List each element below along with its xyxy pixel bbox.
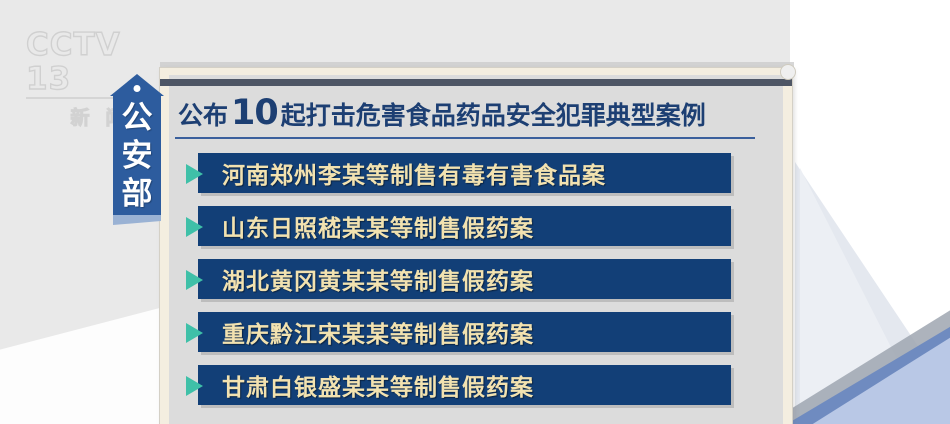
list-item[interactable]: 山东日照嵇某某等制售假药案: [186, 206, 746, 246]
triangle-right-icon: [186, 323, 203, 343]
page-title-underline: [175, 137, 755, 139]
page-title-count: 10: [228, 93, 281, 133]
case-list: 河南郑州李某等制售有毒有害食品案 山东日照嵇某某等制售假药案 湖北黄冈黄某某等制…: [186, 153, 746, 418]
panel-corner-ornament: [780, 64, 796, 80]
page-title-suffix: 起打击危害食品药品安全犯罪典型案例: [281, 96, 706, 132]
case-bar[interactable]: 湖北黄冈黄某某等制售假药案: [198, 259, 731, 299]
page-title: 公布 10 起打击危害食品药品安全犯罪典型案例: [178, 93, 748, 133]
case-bar[interactable]: 河南郑州李某等制售有毒有害食品案: [198, 153, 731, 193]
list-item[interactable]: 重庆黔江宋某某等制售假药案: [186, 312, 746, 352]
case-label: 湖北黄冈黄某某等制售假药案: [198, 262, 534, 296]
list-item[interactable]: 甘肃白银盛某某等制售假药案: [186, 365, 746, 405]
banner-char-1: 公: [113, 99, 161, 137]
triangle-right-icon: [186, 164, 203, 184]
case-label: 甘肃白银盛某某等制售假药案: [198, 368, 534, 402]
case-label: 山东日照嵇某某等制售假药案: [198, 209, 534, 243]
case-bar[interactable]: 山东日照嵇某某等制售假药案: [198, 206, 731, 246]
case-bar[interactable]: 重庆黔江宋某某等制售假药案: [198, 312, 731, 352]
triangle-right-icon: [186, 270, 203, 290]
triangle-right-icon: [186, 217, 203, 237]
case-label: 河南郑州李某等制售有毒有害食品案: [198, 156, 606, 190]
ministry-banner: 公 安 部: [110, 74, 164, 224]
banner-char-2: 安: [113, 137, 161, 175]
banner-foot: [113, 215, 161, 225]
list-item[interactable]: 河南郑州李某等制售有毒有害食品案: [186, 153, 746, 193]
case-label: 重庆黔江宋某某等制售假药案: [198, 315, 534, 349]
page-title-prefix: 公布: [178, 96, 228, 132]
banner-pennant-top: [110, 74, 164, 96]
banner-body: 公 安 部: [113, 96, 161, 215]
panel-top-bar: [160, 79, 792, 86]
triangle-right-icon: [186, 376, 203, 396]
banner-dot-icon: [134, 85, 141, 92]
news-graphic-screen: CCTV 13 新闻 公 安 部 公布 10 起打击危害食品药品安全犯罪典型案例…: [0, 0, 950, 424]
banner-char-3: 部: [113, 175, 161, 213]
list-item[interactable]: 湖北黄冈黄某某等制售假药案: [186, 259, 746, 299]
case-bar[interactable]: 甘肃白银盛某某等制售假药案: [198, 365, 731, 405]
